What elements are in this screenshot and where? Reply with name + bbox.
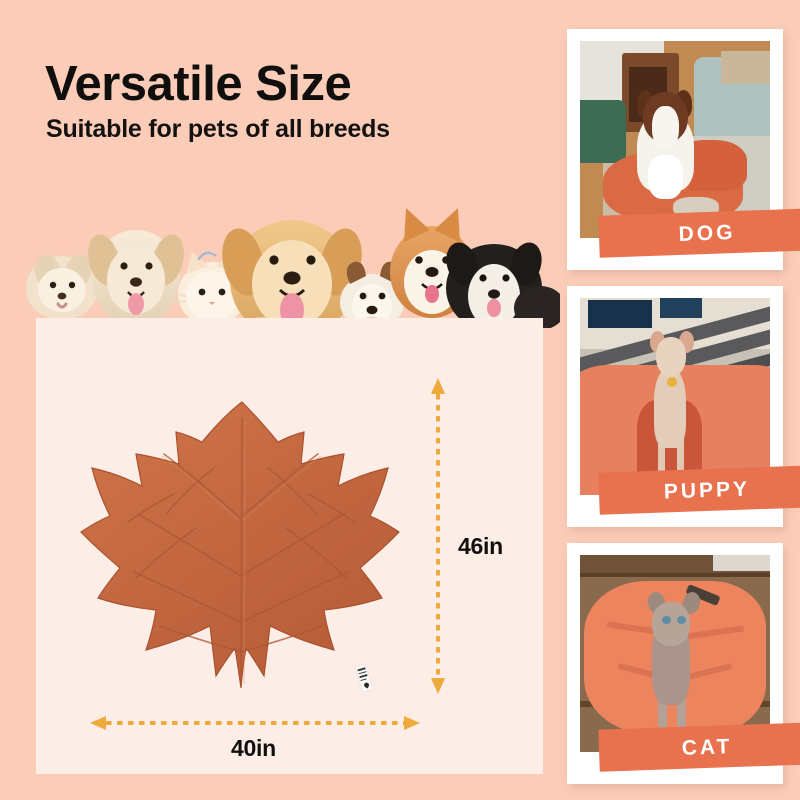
dotted-line xyxy=(436,394,440,678)
card-label-banner-cat: CAT xyxy=(598,722,800,772)
card-label-cat: CAT xyxy=(681,736,732,759)
height-dimension-label: 46in xyxy=(458,533,503,560)
photo-card-puppy: PUPPY xyxy=(567,286,783,527)
width-dimension-label: 40in xyxy=(231,735,276,762)
group-of-pets-photo xyxy=(0,168,560,328)
width-dimension-arrow xyxy=(88,712,422,734)
product-infographic: Versatile Size Suitable for pets of all … xyxy=(0,0,800,800)
card-label-dog: DOG xyxy=(678,222,736,245)
page-title: Versatile Size xyxy=(45,60,351,109)
page-subtitle: Suitable for pets of all breeds xyxy=(46,116,390,144)
leaf-shaped-pet-mat xyxy=(72,398,412,698)
arrow-head-down-icon xyxy=(431,678,445,694)
card-label-banner-puppy: PUPPY xyxy=(598,465,800,515)
arrow-head-right-icon xyxy=(404,716,420,730)
photo-puppy xyxy=(580,298,770,495)
card-label-puppy: PUPPY xyxy=(664,478,751,502)
photo-card-dog: DOG xyxy=(567,29,783,270)
arrow-head-left-icon xyxy=(90,716,106,730)
arrow-head-up-icon xyxy=(431,378,445,394)
photo-dog xyxy=(580,41,770,238)
card-label-banner-dog: DOG xyxy=(598,208,800,258)
photo-cat xyxy=(580,555,770,752)
photo-card-cat: CAT xyxy=(567,543,783,784)
height-dimension-arrow xyxy=(427,376,449,696)
dotted-line xyxy=(106,721,404,725)
